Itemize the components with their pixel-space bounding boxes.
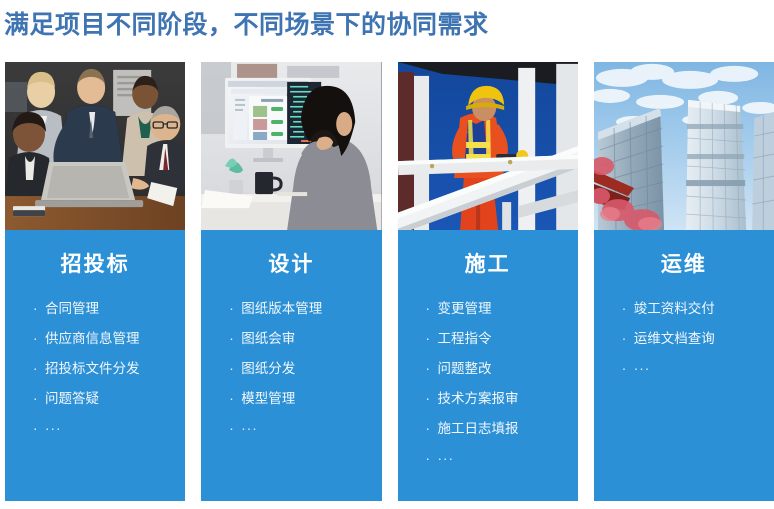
list-item-label: 施工日志填报 xyxy=(438,421,519,436)
photo-construction-worker-on-steel-beam xyxy=(398,62,578,230)
bullet-icon: · xyxy=(426,360,431,377)
bullet-icon: · xyxy=(622,330,627,347)
list-item-label: 变更管理 xyxy=(438,301,492,316)
page-title: 满足项目不同阶段，不同场景下的协同需求 xyxy=(4,9,489,41)
bullet-icon: · xyxy=(33,420,39,437)
list-item-label: 技术方案报审 xyxy=(438,391,519,406)
photo-business-team-meeting-around-laptop xyxy=(5,62,185,230)
list-item[interactable]: ·图纸会审 xyxy=(229,330,381,347)
list-item-label: 图纸版本管理 xyxy=(241,301,322,316)
bullet-icon: · xyxy=(426,390,431,407)
list-item-more[interactable]: ···· xyxy=(426,450,578,467)
list-item-label: 问题答疑 xyxy=(45,391,99,406)
bullet-icon: · xyxy=(229,390,234,407)
bullet-icon: · xyxy=(229,360,234,377)
bullet-icon: · xyxy=(426,450,432,467)
list-item-more[interactable]: ···· xyxy=(622,360,774,377)
list-item[interactable]: ·施工日志填报 xyxy=(426,420,578,437)
list-item[interactable]: ·问题答疑 xyxy=(33,390,185,407)
list-item[interactable]: ·工程指令 xyxy=(426,330,578,347)
list-item-label: 问题整改 xyxy=(438,361,492,376)
list-item[interactable]: ·合同管理 xyxy=(33,300,185,317)
card-feature-list: ·变更管理 ·工程指令 ·问题整改 ·技术方案报审 ·施工日志填报 ···· xyxy=(398,300,578,480)
card-feature-list: ·合同管理 ·供应商信息管理 ·招投标文件分发 ·问题答疑 ···· xyxy=(5,300,185,450)
list-item[interactable]: ·技术方案报审 xyxy=(426,390,578,407)
list-item[interactable]: ·供应商信息管理 xyxy=(33,330,185,347)
bullet-icon: · xyxy=(33,300,38,317)
list-item-label: ··· xyxy=(438,451,455,466)
list-item-label: ··· xyxy=(634,361,651,376)
bullet-icon: · xyxy=(33,390,38,407)
bullet-icon: · xyxy=(426,330,431,347)
list-item[interactable]: ·问题整改 xyxy=(426,360,578,377)
list-item[interactable]: ·图纸分发 xyxy=(229,360,381,377)
stage-card-list: 招投标 ·合同管理 ·供应商信息管理 ·招投标文件分发 ·问题答疑 ···· xyxy=(5,62,774,501)
bullet-icon: · xyxy=(229,300,234,317)
photo-glass-office-towers-skyline xyxy=(594,62,774,230)
list-item-label: 图纸会审 xyxy=(241,331,295,346)
card-title: 运维 xyxy=(594,252,774,278)
stage-card-design[interactable]: 设计 ·图纸版本管理 ·图纸会审 ·图纸分发 ·模型管理 ···· xyxy=(201,62,381,501)
list-item-label: 招投标文件分发 xyxy=(45,361,140,376)
list-item-label: 模型管理 xyxy=(241,391,295,406)
list-item[interactable]: ·运维文档查询 xyxy=(622,330,774,347)
list-item-label: ··· xyxy=(45,421,62,436)
list-item[interactable]: ·模型管理 xyxy=(229,390,381,407)
list-item-label: 供应商信息管理 xyxy=(45,331,140,346)
stage-card-operations[interactable]: 运维 ·竣工资料交付 ·运维文档查询 ···· xyxy=(594,62,774,501)
bullet-icon: · xyxy=(33,360,38,377)
bullet-icon: · xyxy=(426,420,431,437)
list-item-label: ··· xyxy=(241,421,258,436)
list-item-label: 图纸分发 xyxy=(241,361,295,376)
card-title: 招投标 xyxy=(5,252,185,278)
list-item-label: 竣工资料交付 xyxy=(634,301,715,316)
card-title: 施工 xyxy=(398,252,578,278)
list-item-more[interactable]: ···· xyxy=(229,420,381,437)
card-title: 设计 xyxy=(201,252,381,278)
slide-root: 满足项目不同阶段，不同场景下的协同需求 xyxy=(0,0,774,509)
bullet-icon: · xyxy=(229,420,235,437)
bullet-icon: · xyxy=(622,300,627,317)
list-item[interactable]: ·图纸版本管理 xyxy=(229,300,381,317)
list-item[interactable]: ·变更管理 xyxy=(426,300,578,317)
stage-card-construction[interactable]: 施工 ·变更管理 ·工程指令 ·问题整改 ·技术方案报审 ·施工日志填报 ···… xyxy=(398,62,578,501)
bullet-icon: · xyxy=(426,300,431,317)
list-item-label: 工程指令 xyxy=(438,331,492,346)
card-body-bidding: 招投标 ·合同管理 ·供应商信息管理 ·招投标文件分发 ·问题答疑 ···· xyxy=(5,230,185,501)
stage-card-bidding[interactable]: 招投标 ·合同管理 ·供应商信息管理 ·招投标文件分发 ·问题答疑 ···· xyxy=(5,62,185,501)
card-body-design: 设计 ·图纸版本管理 ·图纸会审 ·图纸分发 ·模型管理 ···· xyxy=(201,230,381,501)
photo-designer-at-desktop-computer xyxy=(201,62,381,230)
bullet-icon: · xyxy=(622,360,628,377)
list-item-label: 运维文档查询 xyxy=(634,331,715,346)
list-item[interactable]: ·招投标文件分发 xyxy=(33,360,185,377)
card-feature-list: ·竣工资料交付 ·运维文档查询 ···· xyxy=(594,300,774,390)
card-body-operations: 运维 ·竣工资料交付 ·运维文档查询 ···· xyxy=(594,230,774,501)
card-body-construction: 施工 ·变更管理 ·工程指令 ·问题整改 ·技术方案报审 ·施工日志填报 ···… xyxy=(398,230,578,501)
bullet-icon: · xyxy=(33,330,38,347)
list-item-more[interactable]: ···· xyxy=(33,420,185,437)
list-item-label: 合同管理 xyxy=(45,301,99,316)
card-feature-list: ·图纸版本管理 ·图纸会审 ·图纸分发 ·模型管理 ···· xyxy=(201,300,381,450)
bullet-icon: · xyxy=(229,330,234,347)
list-item[interactable]: ·竣工资料交付 xyxy=(622,300,774,317)
